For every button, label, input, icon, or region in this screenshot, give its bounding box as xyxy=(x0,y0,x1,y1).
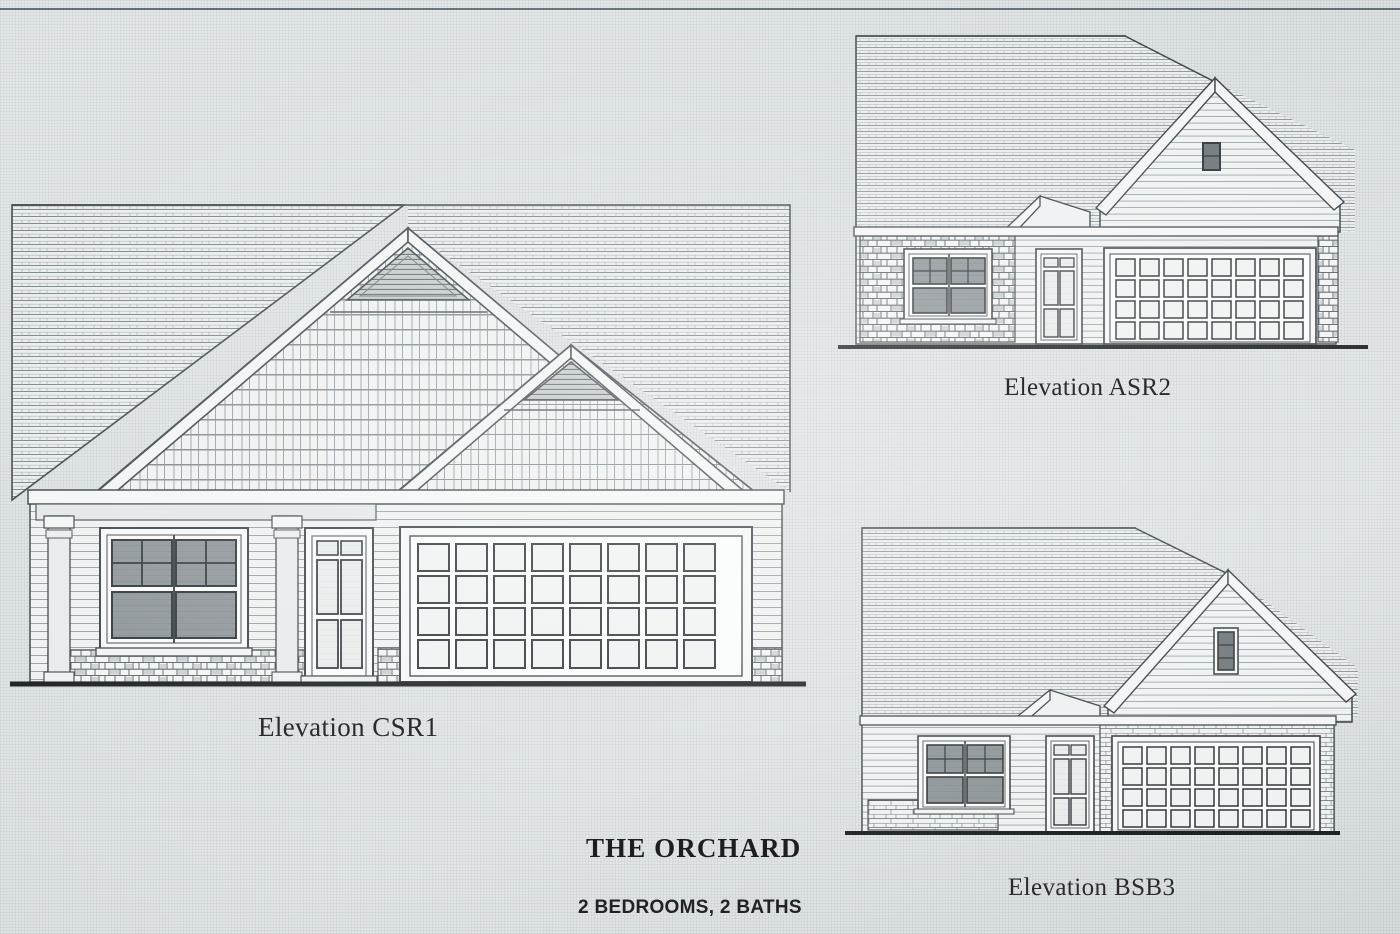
entry-door-bsb3 xyxy=(1046,736,1094,832)
porch-column-right xyxy=(272,516,302,682)
entry-door-asr2 xyxy=(1036,249,1082,344)
garage-door-asr2 xyxy=(1104,248,1316,344)
caption-elevation-asr2: Elevation ASR2 xyxy=(1004,374,1171,402)
entry-door-csr1 xyxy=(301,528,377,684)
elevation-csr1-drawing xyxy=(10,205,806,684)
caption-elevation-csr1: Elevation CSR1 xyxy=(258,712,438,743)
garage-door-csr1 xyxy=(400,527,752,682)
plan-subtitle: 2 BEDROOMS, 2 BATHS xyxy=(578,897,802,919)
window-bsb3 xyxy=(914,736,1014,814)
plan-title: THE ORCHARD xyxy=(586,833,801,864)
elevation-bsb3-drawing xyxy=(845,528,1359,833)
window-asr2 xyxy=(900,249,996,324)
window-csr1 xyxy=(96,528,252,656)
porch-column-left xyxy=(44,516,74,682)
elevation-drawings xyxy=(0,0,1400,934)
garage-door-bsb3 xyxy=(1112,736,1320,832)
elevation-asr2-drawing xyxy=(838,36,1368,347)
elevation-sheet: Elevation CSR1 Elevation ASR2 Elevation … xyxy=(0,0,1400,934)
caption-elevation-bsb3: Elevation BSB3 xyxy=(1008,874,1175,902)
